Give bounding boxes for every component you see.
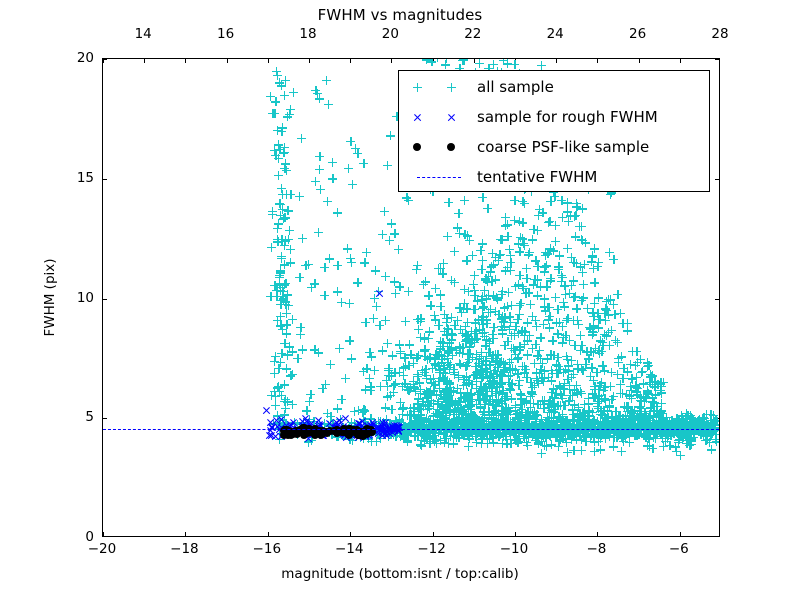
data-point [390,368,399,377]
data-point [429,418,438,427]
data-point [277,235,286,244]
data-point [445,391,454,400]
data-point [689,433,698,442]
data-point [428,431,437,440]
data-point [429,386,438,395]
data-point [599,386,608,395]
data-point [491,307,500,316]
data-point [644,426,653,435]
data-point [487,354,496,363]
data-point [391,416,400,425]
data-point [537,415,546,424]
data-point [470,329,479,338]
data-point [414,404,423,413]
data-point [463,349,472,358]
data-point [606,423,615,432]
data-point [406,383,415,392]
data-point [479,407,488,416]
data-point [266,92,275,101]
data-point [296,323,305,332]
data-point [434,321,443,330]
data-point [568,415,577,424]
data-point [512,435,521,444]
data-point [656,378,665,387]
data-point [596,410,605,419]
data-point [385,426,394,435]
data-point [577,446,586,455]
data-point [273,237,282,246]
data-point [628,411,637,420]
data-point [500,322,509,331]
data-point [443,420,452,429]
data-point [380,429,389,438]
data-point [602,423,611,432]
data-point [625,423,634,432]
data-point [461,415,470,424]
data-point [449,386,458,395]
data-point [529,426,538,435]
data-point [632,347,641,356]
data-point [515,413,524,422]
data-point [579,432,588,441]
data-point [431,315,440,324]
data-point [559,429,568,438]
data-point [436,416,445,425]
data-point [502,408,511,417]
data-point [450,420,459,429]
data-point [283,397,292,406]
data-point [520,399,529,408]
data-point [465,342,474,351]
data-point [550,393,559,402]
data-point [607,412,616,421]
data-point [417,429,426,438]
data-point [586,372,595,381]
data-point [391,379,400,388]
data-point [659,442,668,451]
data-point [489,379,498,388]
data-point [454,415,463,424]
data-point [314,416,323,425]
data-point [275,418,284,427]
data-point [454,433,463,442]
data-point [497,409,506,418]
data-point [635,413,644,422]
data-point [279,294,288,303]
data-point [273,411,282,420]
data-point [549,384,558,393]
data-point [487,414,496,423]
data-point [596,315,605,324]
data-point [485,361,494,370]
data-point [354,406,363,415]
data-point [384,432,393,441]
data-point [601,304,610,313]
data-point [514,432,523,441]
data-point [610,423,619,432]
data-point [558,410,567,419]
data-point [526,392,535,401]
data-point [444,346,453,355]
data-point [440,352,449,361]
data-point [447,329,456,338]
data-point [564,361,573,370]
data-point [280,380,289,389]
data-point [489,414,498,423]
data-point [400,434,409,443]
data-point [613,416,622,425]
data-point [669,418,678,427]
data-point [579,293,588,302]
data-point [563,207,572,216]
data-point [414,351,423,360]
data-point [284,301,293,310]
data-point [649,433,658,442]
data-point [280,91,289,100]
data-point [537,61,546,70]
data-point [374,423,383,432]
data-point [534,439,543,448]
data-point [614,358,623,367]
data-point [433,405,442,414]
data-point [639,418,648,427]
data-point [573,411,582,420]
dashed-line-icon [417,177,461,178]
data-point [635,429,644,438]
data-point [356,433,365,442]
data-point [450,405,459,414]
data-point [459,409,468,418]
data-point [540,426,549,435]
data-point [459,381,468,390]
data-point [711,416,719,425]
data-point [518,362,527,371]
data-point [467,327,476,336]
data-point [702,436,711,445]
legend-item-tentative-fwhm[interactable]: tentative FWHM [399,162,709,192]
data-point [498,390,507,399]
data-point [669,426,678,435]
data-point [546,276,555,285]
data-point [600,383,609,392]
data-point [423,400,432,409]
data-point [546,432,555,441]
data-point [433,415,442,424]
data-point [530,359,539,368]
data-point [565,381,574,390]
data-point [458,429,467,438]
data-point [443,342,452,351]
data-point [534,379,543,388]
data-point [330,426,339,435]
data-point [518,197,527,206]
data-point [485,348,494,357]
data-point [275,435,284,444]
data-point [526,300,535,309]
data-point [411,416,420,425]
data-point [275,78,284,87]
data-point [304,434,313,443]
data-point [635,402,644,411]
data-point [677,412,686,421]
data-point [477,265,486,274]
data-point [577,222,586,231]
data-point [511,401,520,410]
data-point [286,105,295,114]
data-point [611,336,620,345]
data-point [469,305,478,314]
data-point [489,291,498,300]
data-point [404,287,413,296]
data-point [537,437,546,446]
data-point [274,140,283,149]
data-point [302,406,311,415]
data-point [696,430,705,439]
data-point [596,418,605,427]
data-point [633,416,642,425]
data-point [514,429,523,438]
data-point [470,286,479,295]
data-point [333,432,342,441]
data-point [477,348,486,357]
data-point [417,415,426,424]
data-point [409,403,418,412]
data-point [500,313,509,322]
data-point [563,244,572,253]
data-point [546,426,555,435]
data-point [641,433,650,442]
data-point [508,379,517,388]
data-point [625,412,634,421]
data-point [570,431,579,440]
data-point [346,137,355,146]
data-point [463,358,472,367]
data-point [409,410,418,419]
data-point [329,423,338,432]
data-point [511,436,520,445]
data-point [500,394,509,403]
data-point [472,414,481,423]
data-point [579,280,588,289]
data-point [706,410,715,419]
data-point [491,253,500,262]
data-point [631,381,640,390]
data-point [280,213,289,222]
data-point [413,261,422,270]
data-point [556,414,565,423]
data-point [424,291,433,300]
data-point [337,395,346,404]
data-point [463,415,472,424]
data-point [602,331,611,340]
data-point [620,402,629,411]
data-point [622,390,631,399]
data-point [359,415,368,424]
legend-item-all-sample[interactable]: all sample [399,72,709,102]
data-point [427,378,436,387]
data-point [573,420,582,429]
data-point [451,400,460,409]
data-point [612,433,621,442]
data-point [524,250,533,259]
data-point [620,402,629,411]
data-point [413,399,422,408]
data-point [457,405,466,414]
data-point [530,411,539,420]
data-point [621,433,630,442]
data-point [472,400,481,409]
data-point [609,442,618,451]
data-point [425,404,434,413]
data-point [619,420,628,429]
data-point [627,386,636,395]
data-point [512,436,521,445]
data-point [632,431,641,440]
data-point [652,429,661,438]
data-point [435,350,444,359]
data-point [487,413,496,422]
data-point [437,419,446,428]
data-point [432,390,441,399]
data-point [499,417,508,426]
data-point [603,406,612,415]
data-point [555,318,564,327]
data-point [505,364,514,373]
data-point [596,445,605,454]
data-point [276,268,285,277]
data-point [526,403,535,412]
data-point [563,314,572,323]
data-point [331,423,340,432]
data-point [398,410,407,419]
data-point [424,402,433,411]
data-point [286,245,295,254]
cross-marker-icon [447,113,456,122]
data-point [651,430,660,439]
data-point [550,351,559,360]
data-point [605,401,614,410]
data-point [594,323,603,332]
data-point [448,351,457,360]
data-point [326,427,334,435]
data-point [408,423,417,432]
data-point [621,411,630,420]
data-point [517,405,526,414]
data-point [578,427,587,436]
data-point [471,417,480,426]
data-point [711,416,719,425]
data-point [433,418,442,427]
data-point [452,416,461,425]
data-point [655,409,664,418]
data-point [666,431,675,440]
data-point [601,429,610,438]
data-point [659,378,668,387]
data-point [534,211,543,220]
data-point [508,418,517,427]
data-point [533,352,542,361]
data-point [690,429,699,438]
data-point [669,426,678,435]
data-point [461,322,470,331]
data-point [559,333,568,342]
data-point [412,353,421,362]
data-point [457,430,466,439]
data-point [513,438,522,447]
data-point [488,249,497,258]
data-point [658,423,667,432]
data-point [405,340,414,349]
data-point [473,296,482,305]
data-point [614,354,623,363]
data-point [522,274,531,283]
data-point [442,408,451,417]
data-point [646,372,655,381]
data-point [623,367,632,376]
data-point [420,368,429,377]
data-point [476,367,485,376]
data-point [334,420,343,429]
data-point [501,213,510,222]
data-point [577,389,586,398]
data-point [650,419,659,428]
data-point [600,330,609,339]
data-point [650,419,659,428]
data-point [709,419,718,428]
data-point [549,351,558,360]
data-point [482,335,491,344]
data-point [398,382,407,391]
data-point [606,423,615,432]
data-point [499,410,508,419]
data-point [698,418,707,427]
data-point [594,404,603,413]
data-point [687,437,696,446]
data-point [280,148,289,157]
data-point [272,67,281,76]
data-point [497,370,506,379]
data-point [479,383,488,392]
data-point [456,403,465,412]
data-point [333,404,342,413]
data-point [681,432,690,441]
data-point [330,427,338,435]
data-point [286,190,295,199]
data-point [499,59,508,65]
data-point [477,315,486,324]
data-point [397,423,406,432]
legend-item-coarse-psf-like-sample[interactable]: coarse PSF-like sample [399,132,709,162]
data-point [569,370,578,379]
data-point [279,429,288,438]
data-point [506,430,515,439]
data-point [520,340,529,349]
legend-item-sample-for-rough-fwhm[interactable]: sample for rough FWHM [399,102,709,132]
chart-legend[interactable]: all samplesample for rough FWHMcoarse PS… [398,70,710,192]
data-point [489,323,498,332]
data-point [644,416,653,425]
data-point [523,408,532,417]
data-point [327,430,336,439]
data-point [281,159,290,168]
data-point [510,431,519,440]
data-point [524,433,533,442]
data-point [523,441,532,450]
data-point [300,429,308,437]
data-point [464,431,473,440]
data-point [629,409,638,418]
data-point [645,378,654,387]
